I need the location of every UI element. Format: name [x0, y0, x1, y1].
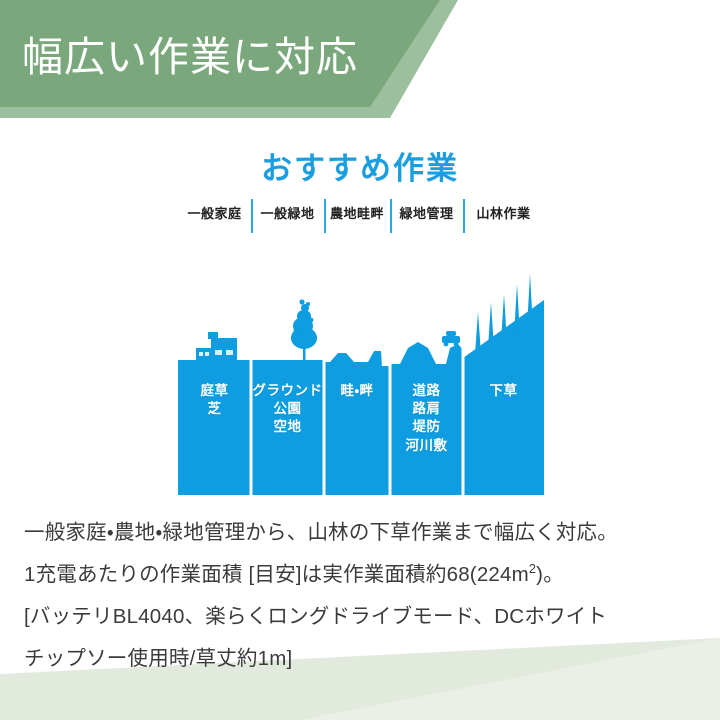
- body-line-2-tail: )。: [536, 563, 564, 586]
- category-header-label: 一般緑地: [260, 203, 314, 222]
- category-header-label: 一般家庭: [187, 203, 241, 222]
- category-header-label: 緑地管理: [399, 203, 453, 222]
- scene-road-car: [390, 331, 463, 495]
- body-line-2-main: 1充電あたりの作業面積 [目安]は実作業面積約68(224m: [24, 563, 529, 586]
- body-line-2: 1充電あたりの作業面積 [目安]は実作業面積約68(224m2)。: [24, 554, 704, 596]
- category-header-3: 緑地管理: [390, 202, 463, 222]
- recommended-work-diagram: おすすめ作業 一般家庭 一般緑地 農地畦畔 緑地管理 山林作業: [0, 140, 720, 505]
- landscape-illustration: [178, 240, 544, 495]
- body-copy: 一般家庭・農地・緑地管理から、山林の下草作業まで幅広く対応。 1充電あたりの作業…: [24, 512, 704, 680]
- scene-tree: [251, 299, 324, 495]
- category-header-row: 一般家庭 一般緑地 農地畦畔 緑地管理 山林作業: [178, 202, 544, 234]
- scene-house: [178, 332, 251, 495]
- category-header-2: 農地畦畔: [324, 202, 390, 222]
- body-line-1: 一般家庭・農地・緑地管理から、山林の下草作業まで幅広く対応。: [24, 512, 704, 554]
- body-line-4: チップソー使用時/草丈約1m]: [24, 638, 704, 680]
- category-header-label: 山林作業: [476, 203, 530, 222]
- tree-icon: [291, 299, 317, 361]
- category-header-1: 一般緑地: [251, 202, 324, 222]
- diagram-chart: 一般家庭 一般緑地 農地畦畔 緑地管理 山林作業: [178, 240, 544, 495]
- category-header-4: 山林作業: [463, 202, 544, 222]
- category-header-0: 一般家庭: [178, 202, 251, 222]
- category-header-label: 農地畦畔: [330, 203, 384, 222]
- diagram-title: おすすめ作業: [0, 150, 720, 187]
- house-icon: [211, 338, 237, 361]
- car-icon: [442, 331, 460, 346]
- page-title: 幅広い作業に対応: [22, 36, 358, 79]
- body-line-3: [バッテリBL4040、楽らくロングドライブモード、DCホワイト: [24, 596, 704, 638]
- scene-forest-slope: [463, 274, 544, 495]
- scene-rice-paddy: [324, 351, 390, 495]
- header-banner: 幅広い作業に対応: [0, 0, 720, 135]
